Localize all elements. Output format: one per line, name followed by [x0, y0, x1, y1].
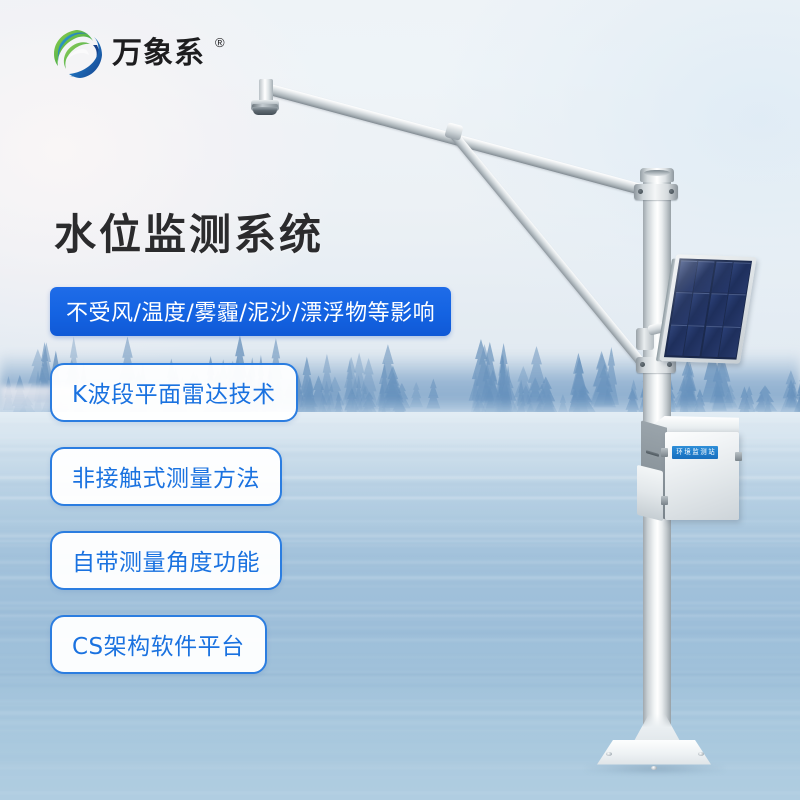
registered-trademark-icon: ®: [215, 35, 225, 50]
feature-item-2[interactable]: 自带测量角度功能: [50, 531, 282, 590]
brand-logo[interactable]: 万象系 ®: [50, 28, 225, 80]
brand-name: 万象系: [112, 39, 205, 69]
highlight-banner: 不受风/温度/雾霾/泥沙/漂浮物等影响: [50, 287, 451, 336]
swirl-globe-icon: [50, 28, 102, 80]
page-title: 水位监测系统: [54, 212, 324, 258]
feature-item-1[interactable]: 非接触式测量方法: [50, 447, 282, 506]
marketing-copy-overlay: 万象系 ® 水位监测系统 不受风/温度/雾霾/泥沙/漂浮物等影响 K波段平面雷达…: [0, 0, 800, 800]
feature-item-3[interactable]: CS架构软件平台: [50, 615, 267, 674]
feature-item-0[interactable]: K波段平面雷达技术: [50, 363, 298, 422]
